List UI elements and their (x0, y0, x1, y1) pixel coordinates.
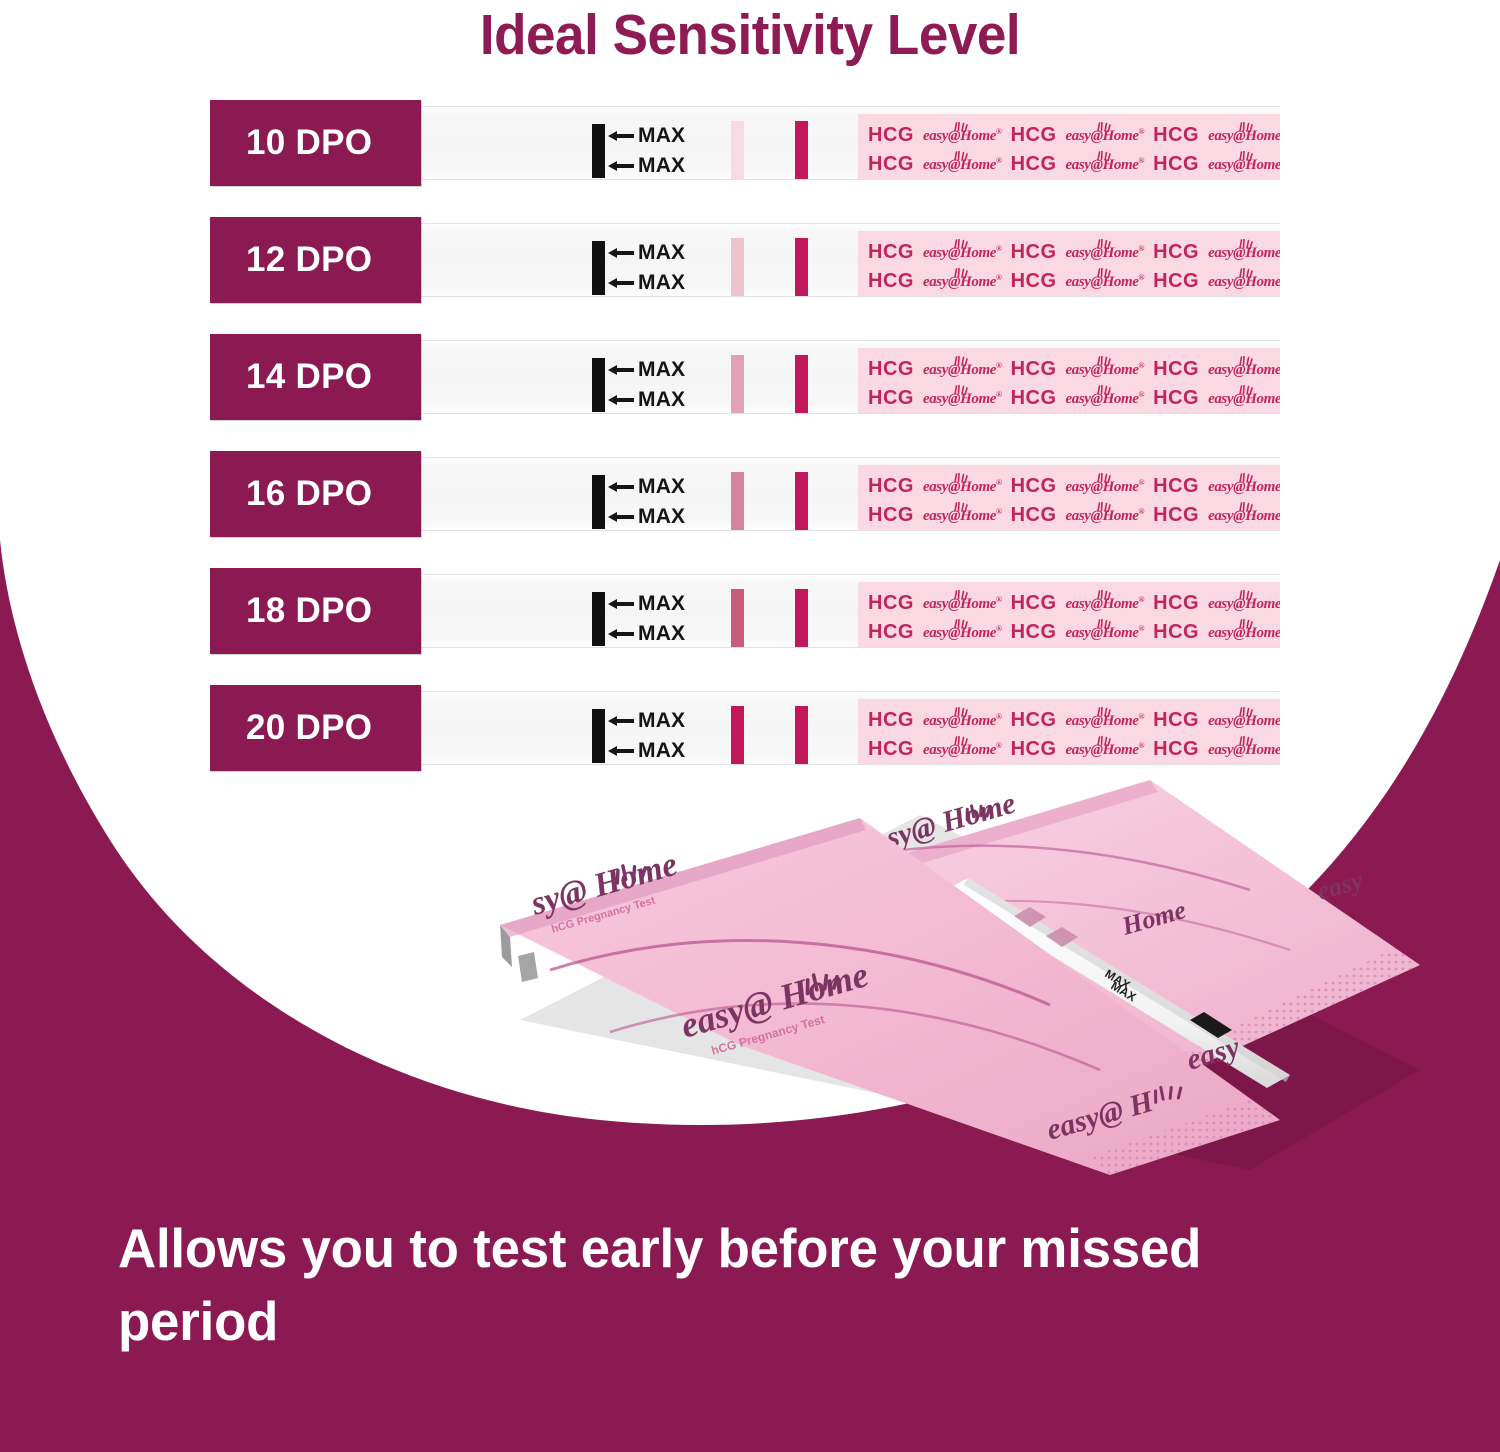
strip-brand-zone: HCGeasy@Home®HCGeasy@Home®HCGeasy@Home®H… (858, 699, 1280, 765)
brand-row: HCGeasy@Home®HCGeasy@Home®HCGeasy@Home® (868, 739, 1280, 761)
max-marker-group: MAX MAX (608, 710, 685, 762)
sunburst-icon (1097, 590, 1111, 600)
hcg-label: HCG (868, 387, 914, 410)
brand-row: HCGeasy@Home®HCGeasy@Home®HCGeasy@Home® (868, 710, 1280, 732)
sunburst-icon (1097, 707, 1111, 717)
sunburst-icon (1239, 239, 1253, 249)
hcg-label: HCG (1011, 153, 1057, 176)
max-marker-line: MAX (608, 155, 685, 177)
easy-at-home-logo: easy@Home® (923, 506, 1002, 526)
sunburst-icon (1239, 356, 1253, 366)
max-marker-line: MAX (608, 125, 685, 147)
easy-at-home-logo: easy@Home® (1208, 711, 1280, 731)
max-bar-icon (592, 475, 605, 529)
easy-at-home-logo: easy@Home® (1208, 506, 1280, 526)
sunburst-icon (1239, 122, 1253, 132)
max-marker-group: MAX MAX (608, 359, 685, 411)
arrow-left-icon (608, 599, 634, 609)
max-label: MAX (638, 475, 685, 499)
max-marker-group: MAX MAX (608, 125, 685, 177)
sunburst-icon (954, 619, 968, 629)
easy-at-home-logo: easy@Home® (923, 155, 1002, 175)
easy-at-home-logo: easy@Home® (923, 243, 1002, 263)
test-line (731, 121, 744, 180)
easy-at-home-logo: easy@Home® (1208, 477, 1280, 497)
table-row: MAX MAX HCGeasy@Home®HCGeasy@Home®HCGeas… (210, 568, 1285, 654)
svg-text:easy: easy (1314, 865, 1367, 906)
test-line (731, 589, 744, 648)
sunburst-icon (1239, 619, 1253, 629)
max-marker-group: MAX MAX (608, 476, 685, 528)
table-row: MAX MAX HCGeasy@Home®HCGeasy@Home®HCGeas… (210, 685, 1285, 771)
control-line (795, 121, 808, 180)
easy-at-home-logo: easy@Home® (1208, 740, 1280, 760)
easy-at-home-logo: easy@Home® (923, 272, 1002, 292)
brand-row: HCGeasy@Home®HCGeasy@Home®HCGeasy@Home® (868, 622, 1280, 644)
sunburst-icon (954, 268, 968, 278)
easy-at-home-logo: easy@Home® (923, 389, 1002, 409)
arrow-left-icon (608, 482, 634, 492)
hcg-label: HCG (1011, 358, 1057, 381)
sunburst-icon (954, 707, 968, 717)
easy-at-home-logo: easy@Home® (923, 711, 1002, 731)
easy-at-home-logo: easy@Home® (1066, 360, 1145, 380)
control-line (795, 355, 808, 414)
brand-row: HCGeasy@Home®HCGeasy@Home®HCGeasy@Home® (868, 476, 1280, 498)
hcg-label: HCG (1153, 475, 1199, 498)
max-marker-line: MAX (608, 476, 685, 498)
easy-at-home-logo: easy@Home® (923, 360, 1002, 380)
easy-at-home-logo: easy@Home® (1208, 389, 1280, 409)
easy-at-home-logo: easy@Home® (1066, 243, 1145, 263)
control-line (795, 472, 808, 531)
strip-brand-zone: HCGeasy@Home®HCGeasy@Home®HCGeasy@Home®H… (858, 348, 1280, 414)
sensitivity-strip-table: MAX MAX HCGeasy@Home®HCGeasy@Home®HCGeas… (210, 100, 1285, 802)
easy-at-home-logo: easy@Home® (1066, 594, 1145, 614)
max-marker-line: MAX (608, 710, 685, 732)
sunburst-icon (1239, 473, 1253, 483)
max-marker-group: MAX MAX (608, 593, 685, 645)
table-row: MAX MAX HCGeasy@Home®HCGeasy@Home®HCGeas… (210, 217, 1285, 303)
sunburst-icon (954, 239, 968, 249)
hcg-label: HCG (1153, 738, 1199, 761)
sunburst-icon (954, 473, 968, 483)
arrow-left-icon (608, 278, 634, 288)
hcg-label: HCG (868, 709, 914, 732)
easy-at-home-logo: easy@Home® (1208, 623, 1280, 643)
sunburst-icon (954, 151, 968, 161)
easy-at-home-logo: easy@Home® (923, 740, 1002, 760)
easy-at-home-logo: easy@Home® (1208, 360, 1280, 380)
hcg-label: HCG (1153, 504, 1199, 527)
test-line (731, 706, 744, 765)
max-bar-icon (592, 358, 605, 412)
sunburst-icon (1239, 268, 1253, 278)
arrow-left-icon (608, 716, 634, 726)
easy-at-home-logo: easy@Home® (1066, 272, 1145, 292)
max-label: MAX (638, 709, 685, 733)
brand-row: HCGeasy@Home®HCGeasy@Home®HCGeasy@Home® (868, 271, 1280, 293)
hcg-label: HCG (868, 504, 914, 527)
dpo-label: 16 DPO (210, 451, 421, 537)
sunburst-icon (1097, 356, 1111, 366)
hcg-label: HCG (1153, 124, 1199, 147)
sunburst-icon (1097, 619, 1111, 629)
arrow-left-icon (608, 161, 634, 171)
hcg-label: HCG (1153, 592, 1199, 615)
brand-row: HCGeasy@Home®HCGeasy@Home®HCGeasy@Home® (868, 125, 1280, 147)
max-label: MAX (638, 271, 685, 295)
easy-at-home-logo: easy@Home® (923, 594, 1002, 614)
easy-at-home-logo: easy@Home® (1208, 155, 1280, 175)
hcg-label: HCG (1153, 709, 1199, 732)
control-line (795, 589, 808, 648)
sunburst-icon (1239, 502, 1253, 512)
sunburst-icon (1097, 268, 1111, 278)
brand-row: HCGeasy@Home®HCGeasy@Home®HCGeasy@Home® (868, 388, 1280, 410)
dpo-label: 20 DPO (210, 685, 421, 771)
hcg-label: HCG (1011, 124, 1057, 147)
easy-at-home-logo: easy@Home® (1066, 155, 1145, 175)
strip-brand-zone: HCGeasy@Home®HCGeasy@Home®HCGeasy@Home®H… (858, 465, 1280, 531)
hcg-label: HCG (1011, 270, 1057, 293)
dpo-label: 18 DPO (210, 568, 421, 654)
max-marker-line: MAX (608, 272, 685, 294)
easy-at-home-logo: easy@Home® (1208, 594, 1280, 614)
arrow-left-icon (608, 395, 634, 405)
easy-at-home-logo: easy@Home® (1066, 477, 1145, 497)
dpo-label: 12 DPO (210, 217, 421, 303)
page-title: Ideal Sensitivity Level (53, 2, 1448, 68)
max-marker-line: MAX (608, 242, 685, 264)
sunburst-icon (1097, 151, 1111, 161)
table-row: MAX MAX HCGeasy@Home®HCGeasy@Home®HCGeas… (210, 451, 1285, 537)
hcg-label: HCG (868, 592, 914, 615)
sunburst-icon (954, 385, 968, 395)
brand-row: HCGeasy@Home®HCGeasy@Home®HCGeasy@Home® (868, 593, 1280, 615)
arrow-left-icon (608, 365, 634, 375)
hcg-label: HCG (1011, 504, 1057, 527)
max-marker-line: MAX (608, 506, 685, 528)
sunburst-icon (1097, 385, 1111, 395)
table-row: MAX MAX HCGeasy@Home®HCGeasy@Home®HCGeas… (210, 100, 1285, 186)
sunburst-icon (1239, 590, 1253, 600)
control-line (795, 238, 808, 297)
max-bar-icon (592, 124, 605, 178)
easy-at-home-logo: easy@Home® (1066, 711, 1145, 731)
max-label: MAX (638, 505, 685, 529)
strip-brand-zone: HCGeasy@Home®HCGeasy@Home®HCGeasy@Home®H… (858, 231, 1280, 297)
hcg-label: HCG (1011, 621, 1057, 644)
hcg-label: HCG (1153, 153, 1199, 176)
hcg-label: HCG (1153, 270, 1199, 293)
hcg-label: HCG (868, 475, 914, 498)
max-bar-icon (592, 241, 605, 295)
strip-brand-zone: HCGeasy@Home®HCGeasy@Home®HCGeasy@Home®H… (858, 582, 1280, 648)
hcg-label: HCG (1011, 387, 1057, 410)
max-marker-line: MAX (608, 359, 685, 381)
sunburst-icon (954, 736, 968, 746)
max-label: MAX (638, 241, 685, 265)
max-label: MAX (638, 358, 685, 382)
hcg-label: HCG (1153, 358, 1199, 381)
arrow-left-icon (608, 629, 634, 639)
hcg-label: HCG (868, 621, 914, 644)
max-marker-line: MAX (608, 389, 685, 411)
hcg-label: HCG (1011, 709, 1057, 732)
sunburst-icon (1239, 736, 1253, 746)
hcg-label: HCG (1011, 592, 1057, 615)
sunburst-icon (1239, 151, 1253, 161)
hcg-label: HCG (868, 124, 914, 147)
sunburst-icon (1097, 122, 1111, 132)
easy-at-home-logo: easy@Home® (1066, 623, 1145, 643)
easy-at-home-logo: easy@Home® (923, 623, 1002, 643)
sunburst-icon (1239, 385, 1253, 395)
table-row: MAX MAX HCGeasy@Home®HCGeasy@Home®HCGeas… (210, 334, 1285, 420)
test-line (731, 472, 744, 531)
hcg-label: HCG (868, 241, 914, 264)
easy-at-home-logo: easy@Home® (1208, 126, 1280, 146)
max-label: MAX (638, 622, 685, 646)
brand-row: HCGeasy@Home®HCGeasy@Home®HCGeasy@Home® (868, 505, 1280, 527)
sunburst-icon (1239, 707, 1253, 717)
max-label: MAX (638, 388, 685, 412)
max-bar-icon (592, 709, 605, 763)
brand-row: HCGeasy@Home®HCGeasy@Home®HCGeasy@Home® (868, 242, 1280, 264)
sunburst-icon (954, 122, 968, 132)
sunburst-icon (954, 590, 968, 600)
hcg-label: HCG (868, 270, 914, 293)
easy-at-home-logo: easy@Home® (1208, 243, 1280, 263)
arrow-left-icon (608, 131, 634, 141)
max-marker-line: MAX (608, 593, 685, 615)
max-marker-line: MAX (608, 740, 685, 762)
sunburst-icon (1097, 239, 1111, 249)
hcg-label: HCG (1011, 738, 1057, 761)
max-marker-group: MAX MAX (608, 242, 685, 294)
hcg-label: HCG (1011, 241, 1057, 264)
sunburst-icon (954, 502, 968, 512)
sunburst-icon (954, 356, 968, 366)
easy-at-home-logo: easy@Home® (1208, 272, 1280, 292)
max-label: MAX (638, 739, 685, 763)
max-bar-icon (592, 592, 605, 646)
arrow-left-icon (608, 512, 634, 522)
hcg-label: HCG (1011, 475, 1057, 498)
max-label: MAX (638, 154, 685, 178)
test-line (731, 238, 744, 297)
test-line (731, 355, 744, 414)
brand-row: HCGeasy@Home®HCGeasy@Home®HCGeasy@Home® (868, 359, 1280, 381)
hcg-label: HCG (1153, 241, 1199, 264)
max-label: MAX (638, 124, 685, 148)
easy-at-home-logo: easy@Home® (923, 477, 1002, 497)
hcg-label: HCG (868, 153, 914, 176)
brand-row: HCGeasy@Home®HCGeasy@Home®HCGeasy@Home® (868, 154, 1280, 176)
max-label: MAX (638, 592, 685, 616)
easy-at-home-logo: easy@Home® (923, 126, 1002, 146)
hcg-label: HCG (868, 358, 914, 381)
hcg-label: HCG (1153, 621, 1199, 644)
easy-at-home-logo: easy@Home® (1066, 506, 1145, 526)
strip-brand-zone: HCGeasy@Home®HCGeasy@Home®HCGeasy@Home®H… (858, 114, 1280, 180)
easy-at-home-logo: easy@Home® (1066, 126, 1145, 146)
arrow-left-icon (608, 746, 634, 756)
hcg-label: HCG (868, 738, 914, 761)
max-marker-line: MAX (608, 623, 685, 645)
headline-text: Allows you to test early before your mis… (118, 1212, 1366, 1357)
arrow-left-icon (608, 248, 634, 258)
sunburst-icon (1097, 736, 1111, 746)
hcg-label: HCG (1153, 387, 1199, 410)
sunburst-icon (1097, 502, 1111, 512)
dpo-label: 10 DPO (210, 100, 421, 186)
product-photo: sy@ Home Home easy MAX MAX sy@ Home (490, 770, 1440, 1190)
easy-at-home-logo: easy@Home® (1066, 740, 1145, 760)
dpo-label: 14 DPO (210, 334, 421, 420)
easy-at-home-logo: easy@Home® (1066, 389, 1145, 409)
control-line (795, 706, 808, 765)
sunburst-icon (1097, 473, 1111, 483)
